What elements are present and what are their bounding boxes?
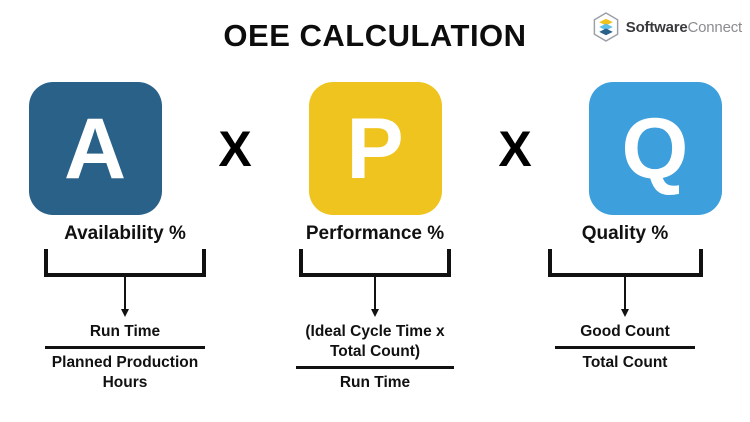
quality-box-wrapper: Q [560, 82, 750, 215]
availability-denominator: Planned Production Hours [52, 353, 198, 393]
availability-arrow [124, 277, 126, 310]
performance-denominator: Run Time [340, 373, 410, 393]
performance-bracket [299, 249, 451, 277]
performance-label: Performance % [306, 224, 444, 245]
availability-column: Availability % Run Time Planned Producti… [0, 224, 250, 422]
availability-fraction-bar [45, 346, 205, 349]
quality-fraction: Good Count Total Count [555, 322, 695, 373]
page-title: OEE CALCULATION [0, 18, 750, 54]
performance-box-wrapper: P [280, 82, 470, 215]
availability-box-wrapper: A [0, 82, 190, 215]
quality-denominator: Total Count [583, 353, 668, 373]
performance-fraction-bar [296, 366, 454, 369]
multiply-operator-2: X [470, 124, 560, 174]
availability-numerator: Run Time [90, 322, 160, 342]
definitions-row: Availability % Run Time Planned Producti… [0, 224, 750, 422]
availability-bracket [44, 249, 206, 277]
availability-letter-box: A [29, 82, 162, 215]
quality-letter: Q [622, 106, 689, 192]
performance-numerator: (Ideal Cycle Time x Total Count) [305, 322, 444, 362]
quality-bracket [548, 249, 703, 277]
performance-column: Performance % (Ideal Cycle Time x Total … [250, 224, 500, 422]
quality-arrow [624, 277, 626, 310]
performance-letter-box: P [309, 82, 442, 215]
quality-column: Quality % Good Count Total Count [500, 224, 750, 422]
formula-row: A X P X Q [0, 82, 750, 217]
quality-label: Quality % [582, 224, 669, 245]
quality-letter-box: Q [589, 82, 722, 215]
quality-fraction-bar [555, 346, 695, 349]
performance-letter: P [346, 106, 403, 192]
performance-fraction: (Ideal Cycle Time x Total Count) Run Tim… [296, 322, 454, 392]
quality-numerator: Good Count [580, 322, 670, 342]
multiply-operator-1: X [190, 124, 280, 174]
availability-letter: A [64, 106, 126, 192]
performance-arrow [374, 277, 376, 310]
availability-label: Availability % [64, 224, 186, 245]
availability-fraction: Run Time Planned Production Hours [45, 322, 205, 392]
